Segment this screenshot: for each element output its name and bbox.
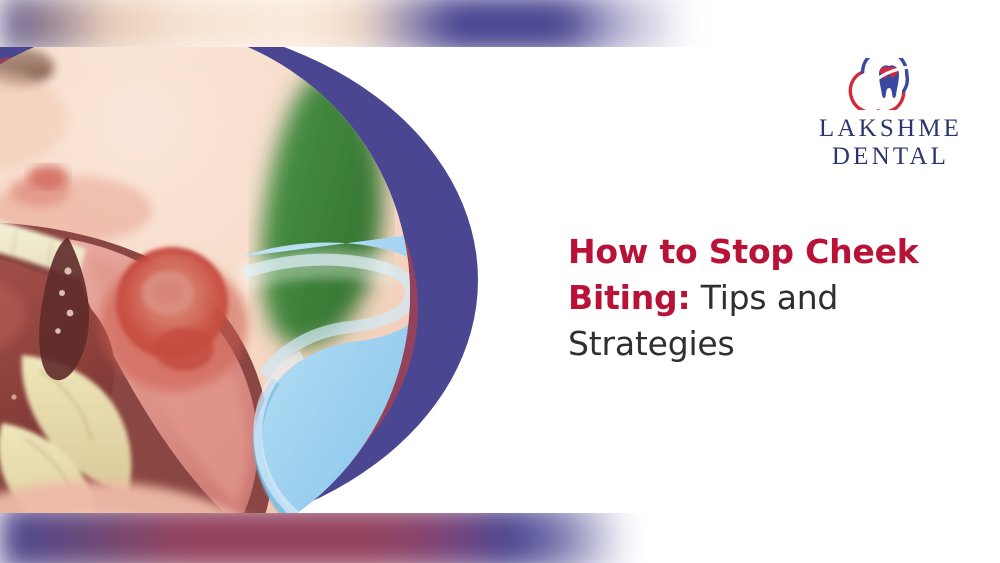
logo-text-line-1: LAKSHME [814,115,964,143]
tooth-swoosh-icon [814,58,964,110]
brand-logo[interactable]: LAKSHME DENTAL [814,58,964,171]
blog-banner: LAKSHME DENTAL How to Stop Cheek Biting:… [0,0,1000,563]
blurred-bottom-band [0,505,1000,563]
blurred-top-band [0,0,1000,54]
page-title: How to Stop Cheek Biting: Tips and Strat… [568,229,968,367]
logo-text-line-2: DENTAL [814,143,964,171]
